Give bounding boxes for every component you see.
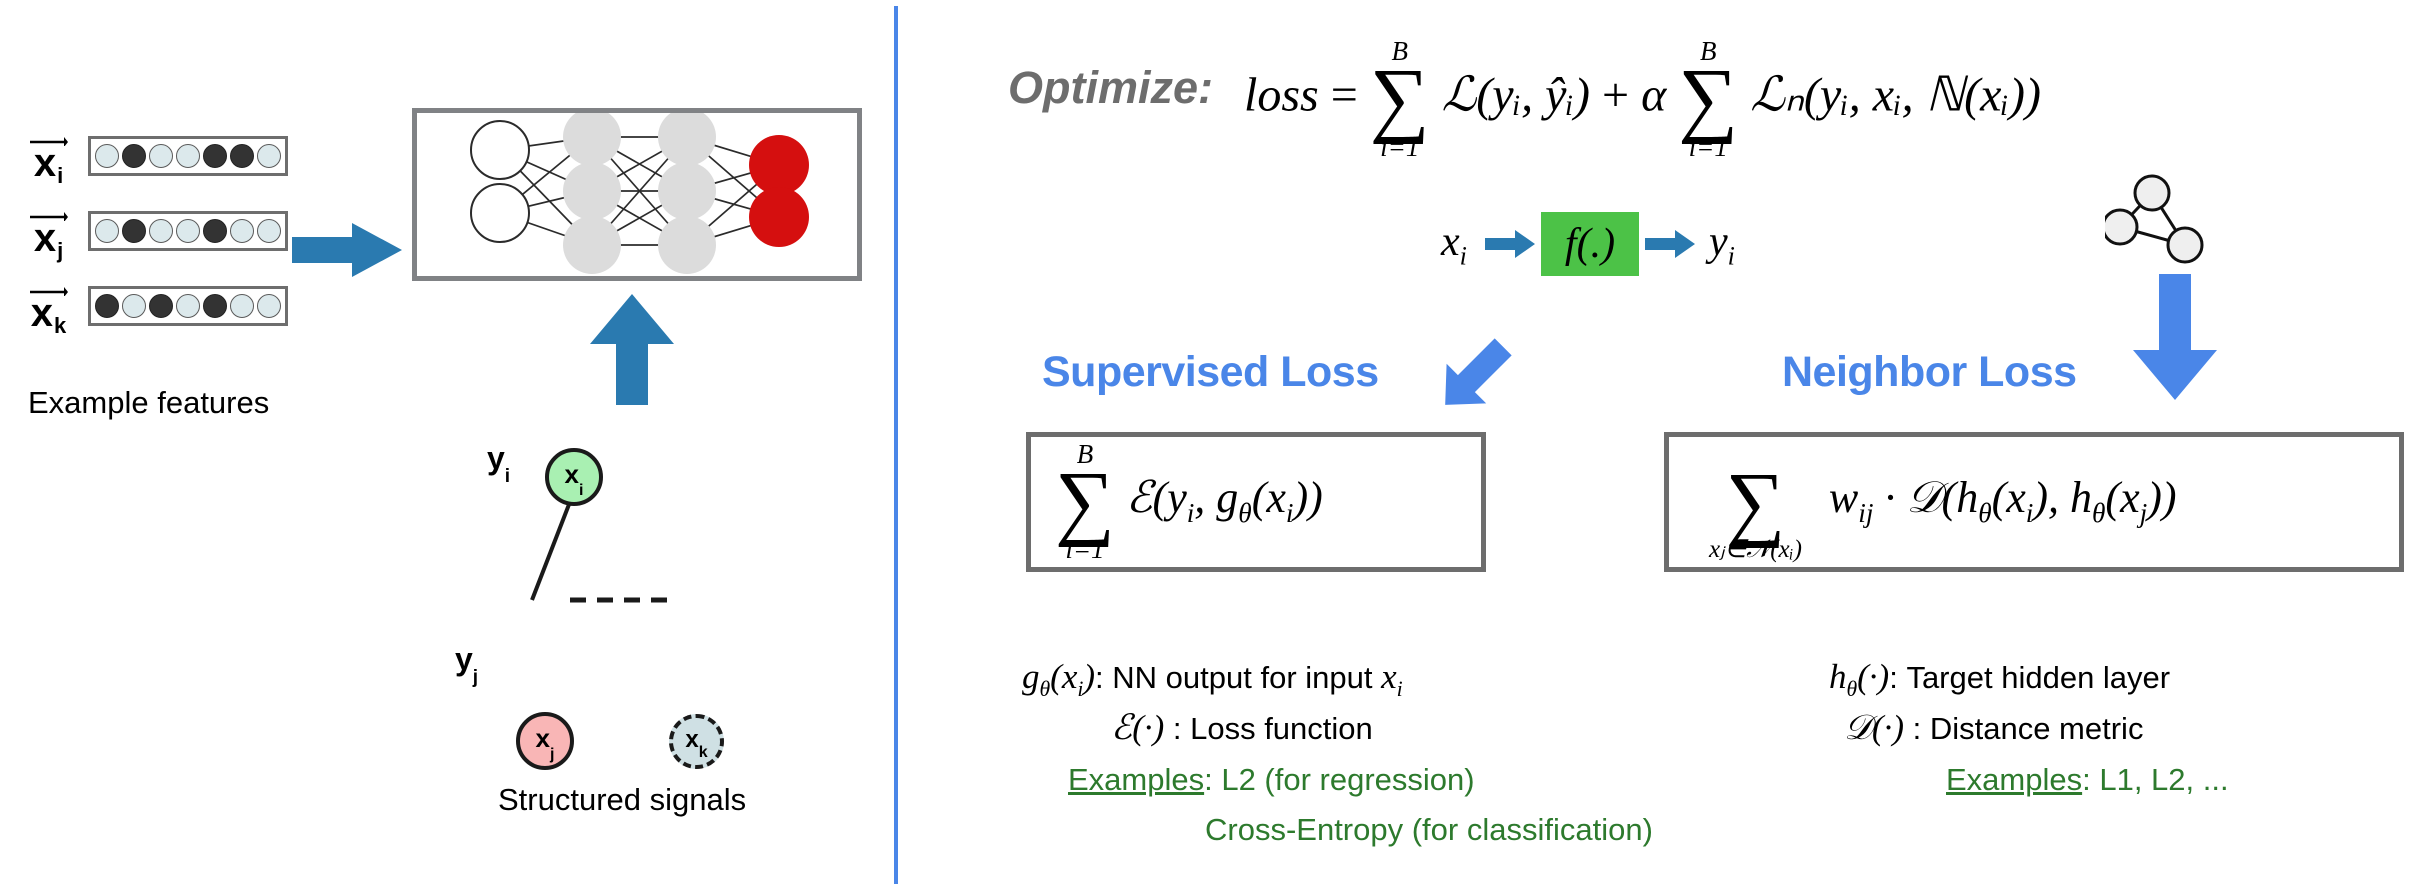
arrow-features-to-network-icon xyxy=(290,215,410,285)
graph-node-xj-label: xj xyxy=(536,723,555,758)
function-box-label: f(.) xyxy=(1565,220,1615,268)
graph-node-xj: xj xyxy=(516,712,574,770)
optimize-label: Optimize: xyxy=(1008,62,1213,114)
vector-subscript-k: k xyxy=(54,313,66,338)
main-equation: loss = B ∑ i=1 ℒ(yᵢ, ŷᵢ) + α B ∑ i=1 ℒₙ(… xyxy=(1244,38,2041,161)
feature-dot xyxy=(149,219,173,243)
arrow-fn-to-output-icon xyxy=(1645,228,1697,260)
neighbor-legend-text-1: : Target hidden layer xyxy=(1889,660,2170,695)
main-equation-alpha: α xyxy=(1641,68,1666,121)
neighbor-examples-text-1: : L1, L2, ... xyxy=(2082,762,2228,797)
graph-node-xi-label: xi xyxy=(565,459,584,494)
hidden-layer-2-nodes xyxy=(658,113,716,274)
function-box: f(.) xyxy=(1541,212,1639,276)
neighbor-legend-symbol-1: hθ(·) xyxy=(1829,657,1889,696)
feature-dot xyxy=(122,294,146,318)
graph-label-yj: yj xyxy=(455,641,478,683)
feature-box-j xyxy=(88,211,288,251)
graph-label-yi: yi xyxy=(487,440,510,482)
supervised-loss-formula-box: B ∑ i=1 ℰ(yi, gθ(xi)) xyxy=(1026,432,1486,572)
vector-label-i: xi xyxy=(20,130,76,190)
main-equation-plus: + xyxy=(1602,68,1629,121)
caption-structured-signals: Structured signals xyxy=(498,782,746,818)
supervised-legend-math-1: xi xyxy=(1381,657,1403,696)
vector-subscript-i: i xyxy=(57,163,63,188)
supervised-loss-formula: B ∑ i=1 ℰ(yi, gθ(xi)) xyxy=(1031,441,1323,564)
supervised-examples-line-1: Examples: L2 (for regression) xyxy=(1068,762,1475,798)
supervised-legend-symbol-1: gθ(xi) xyxy=(1022,657,1095,696)
flow-output-label: yi xyxy=(1709,218,1735,271)
main-equation-sum-2: B ∑ i=1 xyxy=(1678,38,1738,161)
main-equation-sum-1: B ∑ i=1 xyxy=(1370,38,1430,161)
main-equation-term-1: ℒ(yᵢ, ŷᵢ) xyxy=(1442,68,1590,121)
graph-node-xk: xk xyxy=(669,714,724,769)
graph-node-xk-label: xk xyxy=(685,726,707,758)
feature-dot xyxy=(203,294,227,318)
graph-node-xi: xi xyxy=(545,448,603,506)
supervised-examples-line-2: Cross-Entropy (for classification) xyxy=(1205,812,1653,848)
supervised-legend-row-1: gθ(xi): NN output for input xi xyxy=(1022,657,1403,702)
supervised-legend-text-1: : NN output for input xyxy=(1095,660,1381,695)
neural-network-box xyxy=(412,108,862,281)
sum-symbol: ∑ xyxy=(1055,468,1115,537)
feature-dot xyxy=(230,219,254,243)
feature-dot xyxy=(203,144,227,168)
vector-subscript-j: j xyxy=(57,238,63,263)
neighbor-legend-text-2: : Distance metric xyxy=(1904,711,2143,746)
supervised-loss-title: Supervised Loss xyxy=(1042,348,1379,397)
feature-dot xyxy=(176,219,200,243)
sum-symbol: ∑ xyxy=(1678,65,1738,134)
hidden-layer-1-nodes xyxy=(563,113,621,274)
feature-dot xyxy=(176,144,200,168)
arrow-to-supervised-loss-icon xyxy=(1422,318,1532,428)
input-layer-nodes xyxy=(471,121,529,242)
neighbor-loss-title: Neighbor Loss xyxy=(1782,348,2077,397)
main-equation-term-2: ℒₙ(yᵢ, xᵢ, ℕ(xᵢ)) xyxy=(1750,68,2041,121)
arrow-to-neighbor-loss-icon xyxy=(2130,272,2220,402)
neighbor-loss-formula: ∑ xⱼ∈𝒩(xᵢ) wij · 𝒟(hθ(xi), hθ(xj)) xyxy=(1669,442,2177,563)
neighbor-legend-row-2: 𝒟(·) : Distance metric xyxy=(1844,708,2143,748)
supervised-sum: B ∑ i=1 xyxy=(1055,441,1115,564)
feature-dot xyxy=(203,219,227,243)
feature-dot xyxy=(257,219,281,243)
feature-box-i xyxy=(88,136,288,176)
supervised-legend-text-2: : Loss function xyxy=(1164,711,1373,746)
arrow-input-to-fn-icon xyxy=(1485,228,1537,260)
neighbor-sum: ∑ xⱼ∈𝒩(xᵢ) xyxy=(1709,442,1802,563)
caption-example-features: Example features xyxy=(28,385,269,421)
main-equation-lhs: loss xyxy=(1244,68,1319,121)
panel-divider xyxy=(894,6,898,884)
sum-symbol: ∑ xyxy=(1370,65,1430,134)
neighbor-legend-row-1: hθ(·): Target hidden layer xyxy=(1829,657,2170,702)
neighbor-examples-line-1: Examples: L1, L2, ... xyxy=(1946,762,2229,798)
feature-dot xyxy=(230,144,254,168)
structured-signals-graph xyxy=(490,430,810,750)
main-equation-equals: = xyxy=(1331,68,1358,121)
vector-symbol-j: xj xyxy=(20,216,76,266)
sum-symbol: ∑ xyxy=(1709,469,1802,538)
arrow-signals-to-network-icon xyxy=(587,292,677,407)
vector-label-k: xk xyxy=(20,280,76,340)
neighbor-legend-symbol-2: 𝒟(·) xyxy=(1844,708,1904,747)
supervised-formula-body: ℰ(yi, gθ(xi)) xyxy=(1126,473,1323,522)
feature-dot xyxy=(149,294,173,318)
vector-symbol-i: xi xyxy=(20,141,76,191)
feature-dot xyxy=(257,294,281,318)
feature-dot xyxy=(257,144,281,168)
neighbor-graph-icon xyxy=(2105,165,2235,275)
vector-symbol-k: xk xyxy=(20,291,76,341)
flow-input-label: xi xyxy=(1441,218,1467,271)
feature-dot xyxy=(95,294,119,318)
supervised-examples-text-1: : L2 (for regression) xyxy=(1204,762,1475,797)
feature-dot xyxy=(176,294,200,318)
left-panel: xi xj xyxy=(0,0,895,890)
output-layer-nodes xyxy=(749,135,809,247)
sum-lower-limit: xⱼ∈𝒩(xᵢ) xyxy=(1709,537,1802,562)
feature-box-k xyxy=(88,286,288,326)
neighbor-loss-formula-box: ∑ xⱼ∈𝒩(xᵢ) wij · 𝒟(hθ(xi), hθ(xj)) xyxy=(1664,432,2404,572)
feature-dot xyxy=(149,144,173,168)
neighbor-formula-body: wij · 𝒟(hθ(xi), hθ(xj)) xyxy=(1813,473,2177,522)
supervised-legend-row-2: ℰ(·) : Loss function xyxy=(1111,708,1373,748)
feature-dot xyxy=(122,219,146,243)
feature-dot xyxy=(95,144,119,168)
neural-network-diagram xyxy=(417,113,857,276)
feature-dot xyxy=(230,294,254,318)
supervised-examples-label: Examples xyxy=(1068,762,1204,797)
feature-dot xyxy=(122,144,146,168)
neighbor-examples-label: Examples xyxy=(1946,762,2082,797)
supervised-legend-symbol-2: ℰ(·) xyxy=(1111,708,1164,747)
vector-label-j: xj xyxy=(20,205,76,265)
feature-dot xyxy=(95,219,119,243)
